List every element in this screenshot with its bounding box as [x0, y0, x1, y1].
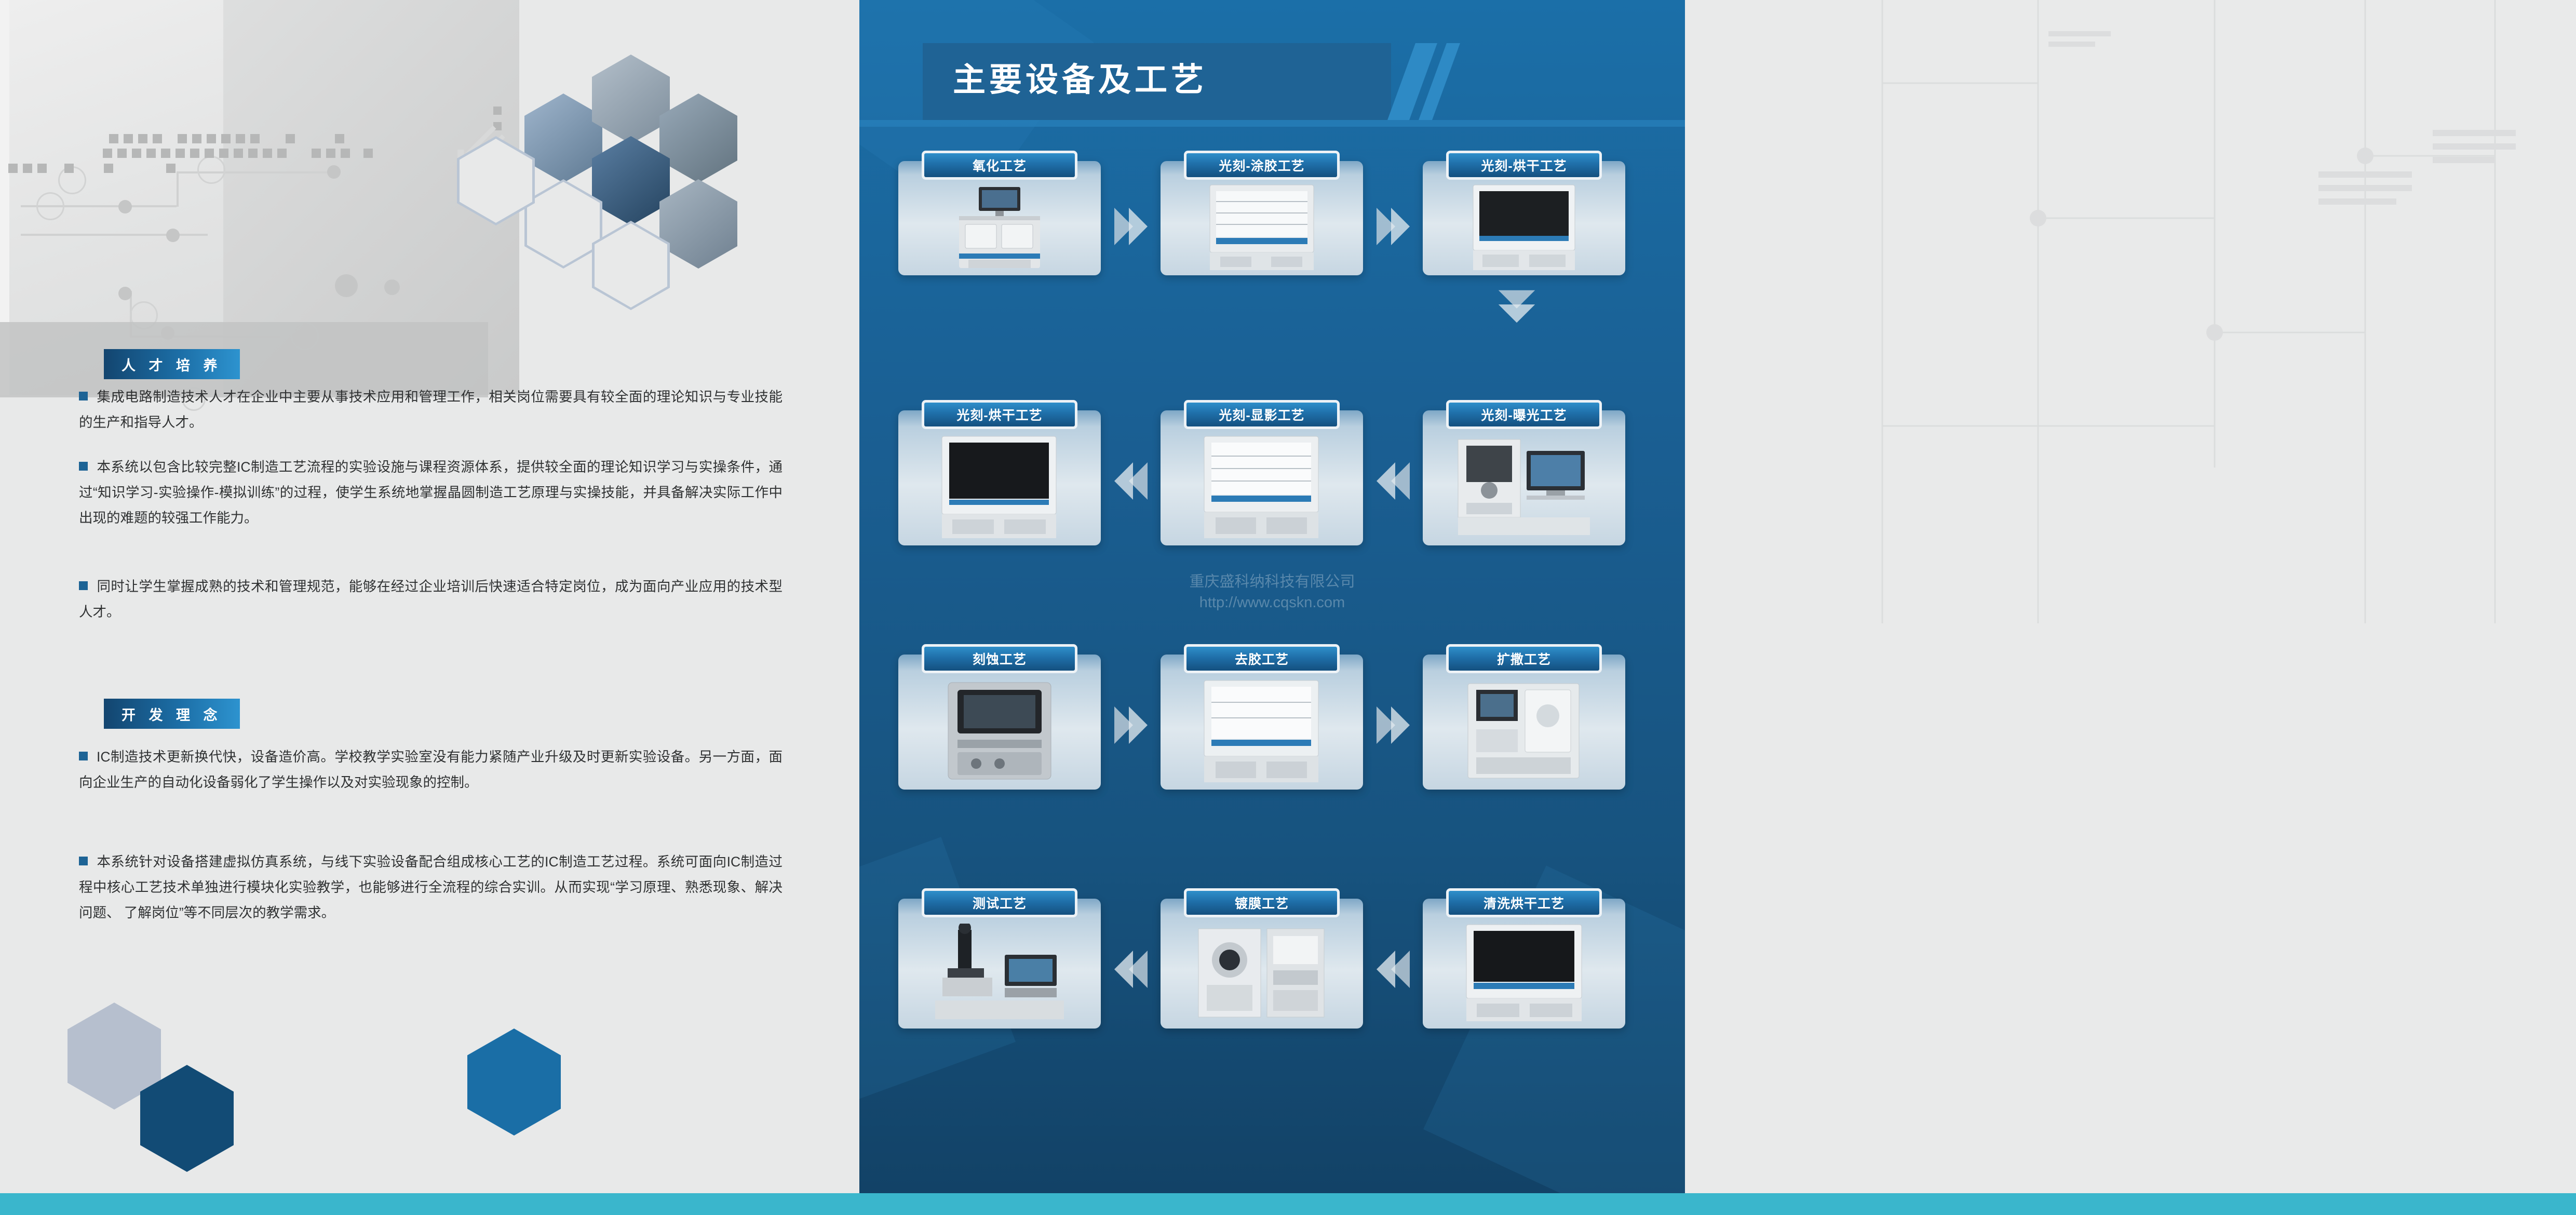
bullet-icon	[79, 392, 88, 400]
equipment-card[interactable]: 光刻-烘干工艺	[898, 410, 1101, 545]
equipment-card[interactable]: 氧化工艺	[898, 161, 1101, 275]
equipment-label: 镀膜工艺	[1184, 888, 1340, 917]
section-badge-concept: 开 发 理 念	[104, 699, 240, 729]
paragraph-concept-2: 本系统针对设备搭建虚拟仿真系统，与线下实验设备配合组成核心工艺的IC制造工艺过程…	[79, 849, 783, 926]
photo-hex-people	[592, 55, 670, 144]
equipment-photo-exposure	[1454, 435, 1594, 539]
equipment-photo-drying-2	[935, 435, 1064, 539]
bullet-icon	[79, 857, 88, 865]
equipment-photo-stripping	[1197, 679, 1327, 783]
circuit-node	[327, 165, 341, 179]
flow-arrow-right-icon	[1374, 701, 1412, 749]
center-underbar	[859, 120, 1685, 127]
flow-arrow-left-icon	[1112, 457, 1150, 505]
equipment-photo-clean-dry	[1459, 924, 1589, 1022]
circuit-ring	[197, 156, 225, 184]
equipment-card[interactable]: 光刻-显影工艺	[1161, 410, 1363, 545]
center-panel: 主要设备及工艺 氧化工艺 光刻-涂胶工艺	[859, 0, 1685, 1215]
paragraph-talent-3: 同时让学生掌握成熟的技术和管理规范，能够在经过企业培训后快速适合特定岗位，成为面…	[79, 574, 783, 625]
circuit-line	[177, 171, 179, 207]
equipment-label: 光刻-曝光工艺	[1446, 400, 1602, 429]
bottom-accent-bar	[0, 1193, 2576, 1215]
photo-hex-outline	[524, 179, 602, 269]
flow-arrow-down-icon	[1493, 281, 1540, 332]
section-badge-talent: 人 才 培 养	[104, 349, 240, 379]
flow-arrow-left-icon	[1374, 457, 1412, 505]
equipment-card[interactable]: 刻蚀工艺	[898, 655, 1101, 790]
equipment-label: 刻蚀工艺	[922, 644, 1077, 673]
flow-arrow-left-icon	[1112, 945, 1150, 993]
equipment-photo-etching	[935, 679, 1064, 783]
photo-hex-outline	[592, 221, 670, 310]
center-title: 主要设备及工艺	[953, 54, 1207, 101]
paragraph-talent-2: 本系统以包含比较完整IC制造工艺流程的实验设施与课程资源体系，提供较全面的理论知…	[79, 455, 783, 531]
equipment-label: 光刻-烘干工艺	[1446, 151, 1602, 180]
paragraph-concept-1: IC制造技术更新换代快，设备造价高。学校教学实验室没有能力紧随产业升级及时更新实…	[79, 744, 783, 795]
equipment-label: 扩撒工艺	[1446, 644, 1602, 673]
equipment-card[interactable]: 镀膜工艺	[1161, 899, 1363, 1029]
flow-arrow-right-icon	[1374, 203, 1412, 250]
poster-root: ⇙ 人 才 培 养 集成电路制造技术人才在企业中主要从事技术应用和管理工作，相关…	[0, 0, 2576, 1215]
equipment-photo-drying	[1467, 184, 1581, 271]
equipment-photo-develop	[1197, 435, 1327, 539]
flow-arrow-right-icon	[1112, 701, 1150, 749]
equipment-photo-testing	[927, 924, 1072, 1022]
equipment-label: 清洗烘干工艺	[1446, 888, 1602, 917]
equipment-label: 氧化工艺	[922, 151, 1077, 180]
watermark: 重庆盛科纳科技有限公司 http://www.cqskn.com	[1189, 571, 1355, 613]
flow-arrow-left-icon	[1374, 945, 1412, 993]
circuit-node	[166, 229, 180, 242]
bullet-icon	[79, 752, 88, 760]
circuit-node	[335, 274, 358, 297]
photo-hex-equipment	[592, 136, 670, 225]
equipment-label: 测试工艺	[922, 888, 1077, 917]
equipment-card[interactable]: 测试工艺	[898, 899, 1101, 1029]
bullet-icon	[79, 581, 88, 590]
circuit-node	[118, 200, 132, 213]
equipment-label: 光刻-显影工艺	[1184, 400, 1340, 429]
equipment-card[interactable]: 光刻-烘干工艺	[1423, 161, 1625, 275]
equipment-card[interactable]: 清洗烘干工艺	[1423, 899, 1625, 1029]
equipment-label: 光刻-涂胶工艺	[1184, 151, 1340, 180]
photo-hex-meeting	[659, 94, 737, 183]
photo-hex-outline	[457, 136, 535, 225]
equipment-label: 去胶工艺	[1184, 644, 1340, 673]
circuit-ring	[36, 192, 64, 220]
right-circuit-background	[1820, 0, 2576, 623]
equipment-card[interactable]: 去胶工艺	[1161, 655, 1363, 790]
right-panel: 集成电路制造工艺流程 热氧化 P型有源区预扩散 P型有源区主扩散 阱区光刻与刻蚀…	[1685, 0, 2576, 1215]
equipment-card[interactable]: 光刻-涂胶工艺	[1161, 161, 1363, 275]
circuit-node	[384, 279, 400, 295]
circuit-line	[21, 234, 208, 236]
paragraph-talent-1: 集成电路制造技术人才在企业中主要从事技术应用和管理工作，相关岗位需要具有较全面的…	[79, 384, 783, 435]
bullet-icon	[79, 462, 88, 471]
photo-hex-lab	[524, 94, 602, 183]
equipment-photo-coating	[1205, 184, 1319, 271]
equipment-card[interactable]: 光刻-曝光工艺	[1423, 410, 1625, 545]
circuit-node	[118, 287, 132, 300]
flow-arrow-right-icon	[1112, 203, 1150, 250]
equipment-photo-oxidation	[948, 186, 1051, 269]
equipment-photo-deposition	[1189, 924, 1334, 1022]
left-panel: ⇙ 人 才 培 养 集成电路制造技术人才在企业中主要从事技术应用和管理工作，相关…	[0, 0, 859, 1215]
footer-hex	[467, 1029, 561, 1136]
photo-hex-students	[659, 179, 737, 269]
equipment-photo-diffusion	[1456, 679, 1592, 783]
equipment-card[interactable]: 扩撒工艺	[1423, 655, 1625, 790]
equipment-label: 光刻-烘干工艺	[922, 400, 1077, 429]
